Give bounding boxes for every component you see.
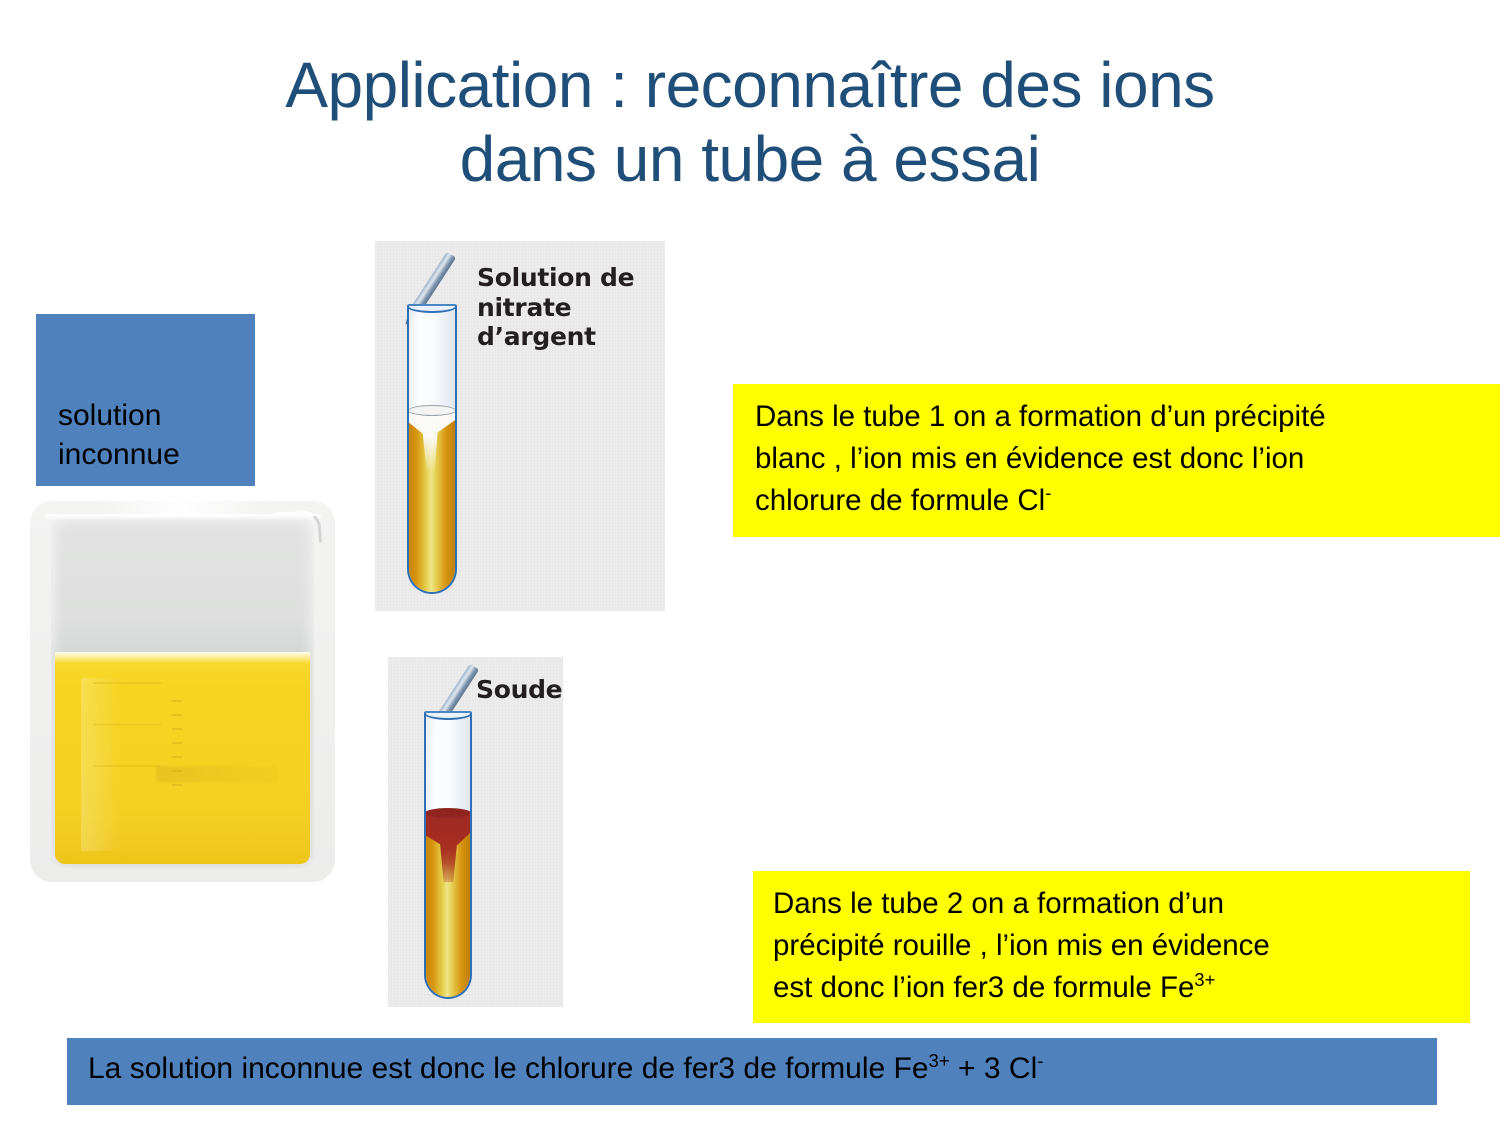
callout-2-line-2: précipité rouille , l’ion mis en évidenc… — [773, 925, 1454, 967]
callout-tube-2: Dans le tube 2 on a formation d’un préci… — [753, 871, 1470, 1023]
callout-tube-1: Dans le tube 1 on a formation d’un préci… — [733, 384, 1500, 537]
conclusion-cl-charge-superscript: - — [1037, 1050, 1043, 1071]
callout-2-line-3-text: est donc l’ion fer3 de formule Fe — [773, 971, 1194, 1004]
tube-caption-2-line-1: Soude — [476, 675, 562, 704]
beaker-glass — [51, 517, 314, 868]
tube-figure-soude: Soude — [388, 657, 563, 1007]
test-tube-2 — [424, 711, 472, 999]
tube-figure-silver-nitrate: Solution de nitrate d’argent — [375, 241, 665, 611]
callout-1-charge-superscript: - — [1045, 482, 1051, 503]
page-title-line-1: Application : reconnaître des ions — [80, 48, 1420, 122]
beaker-embossed-text — [156, 766, 277, 782]
test-tube-2-surface-line — [425, 808, 471, 818]
conclusion-fe-charge-superscript: 3+ — [929, 1050, 950, 1071]
test-tube-2-opening — [424, 711, 472, 720]
conclusion-text-part-2: + 3 Cl — [950, 1052, 1038, 1085]
tube-caption-1-line-2: nitrate d’argent — [477, 293, 596, 352]
beaker-graduation-marks — [93, 682, 161, 808]
test-tube-1-surface-line — [408, 405, 456, 416]
tube-caption-soude: Soude — [476, 675, 562, 705]
test-tube-1-opening — [407, 304, 457, 313]
solution-label-line-2: inconnue — [58, 436, 233, 474]
solution-label-line-1: solution — [58, 397, 233, 435]
callout-1-line-1: Dans le tube 1 on a formation d’un préci… — [755, 396, 1484, 438]
callout-1-line-3-text: chlorure de formule Cl — [755, 484, 1045, 517]
test-tube-1 — [407, 304, 457, 594]
solution-label-box: solution inconnue — [36, 314, 255, 486]
callout-2-charge-superscript: 3+ — [1194, 969, 1215, 990]
tube-caption-1-line-1: Solution de — [477, 263, 634, 292]
callout-1-line-2: blanc , l’ion mis en évidence est donc l… — [755, 438, 1484, 480]
tube-caption-silver-nitrate: Solution de nitrate d’argent — [477, 263, 665, 352]
conclusion-banner: La solution inconnue est donc le chlorur… — [67, 1038, 1437, 1105]
callout-1-line-3: chlorure de formule Cl- — [755, 480, 1484, 522]
callout-2-line-1: Dans le tube 2 on a formation d’un — [773, 883, 1454, 925]
callout-2-line-3: est donc l’ion fer3 de formule Fe3+ — [773, 967, 1454, 1009]
beaker-photo — [30, 501, 335, 882]
page-title-line-2: dans un tube à essai — [80, 122, 1420, 196]
page-title: Application : reconnaître des ions dans … — [80, 48, 1420, 196]
beaker-spout — [273, 509, 322, 545]
conclusion-text-part-1: La solution inconnue est donc le chlorur… — [88, 1052, 929, 1085]
